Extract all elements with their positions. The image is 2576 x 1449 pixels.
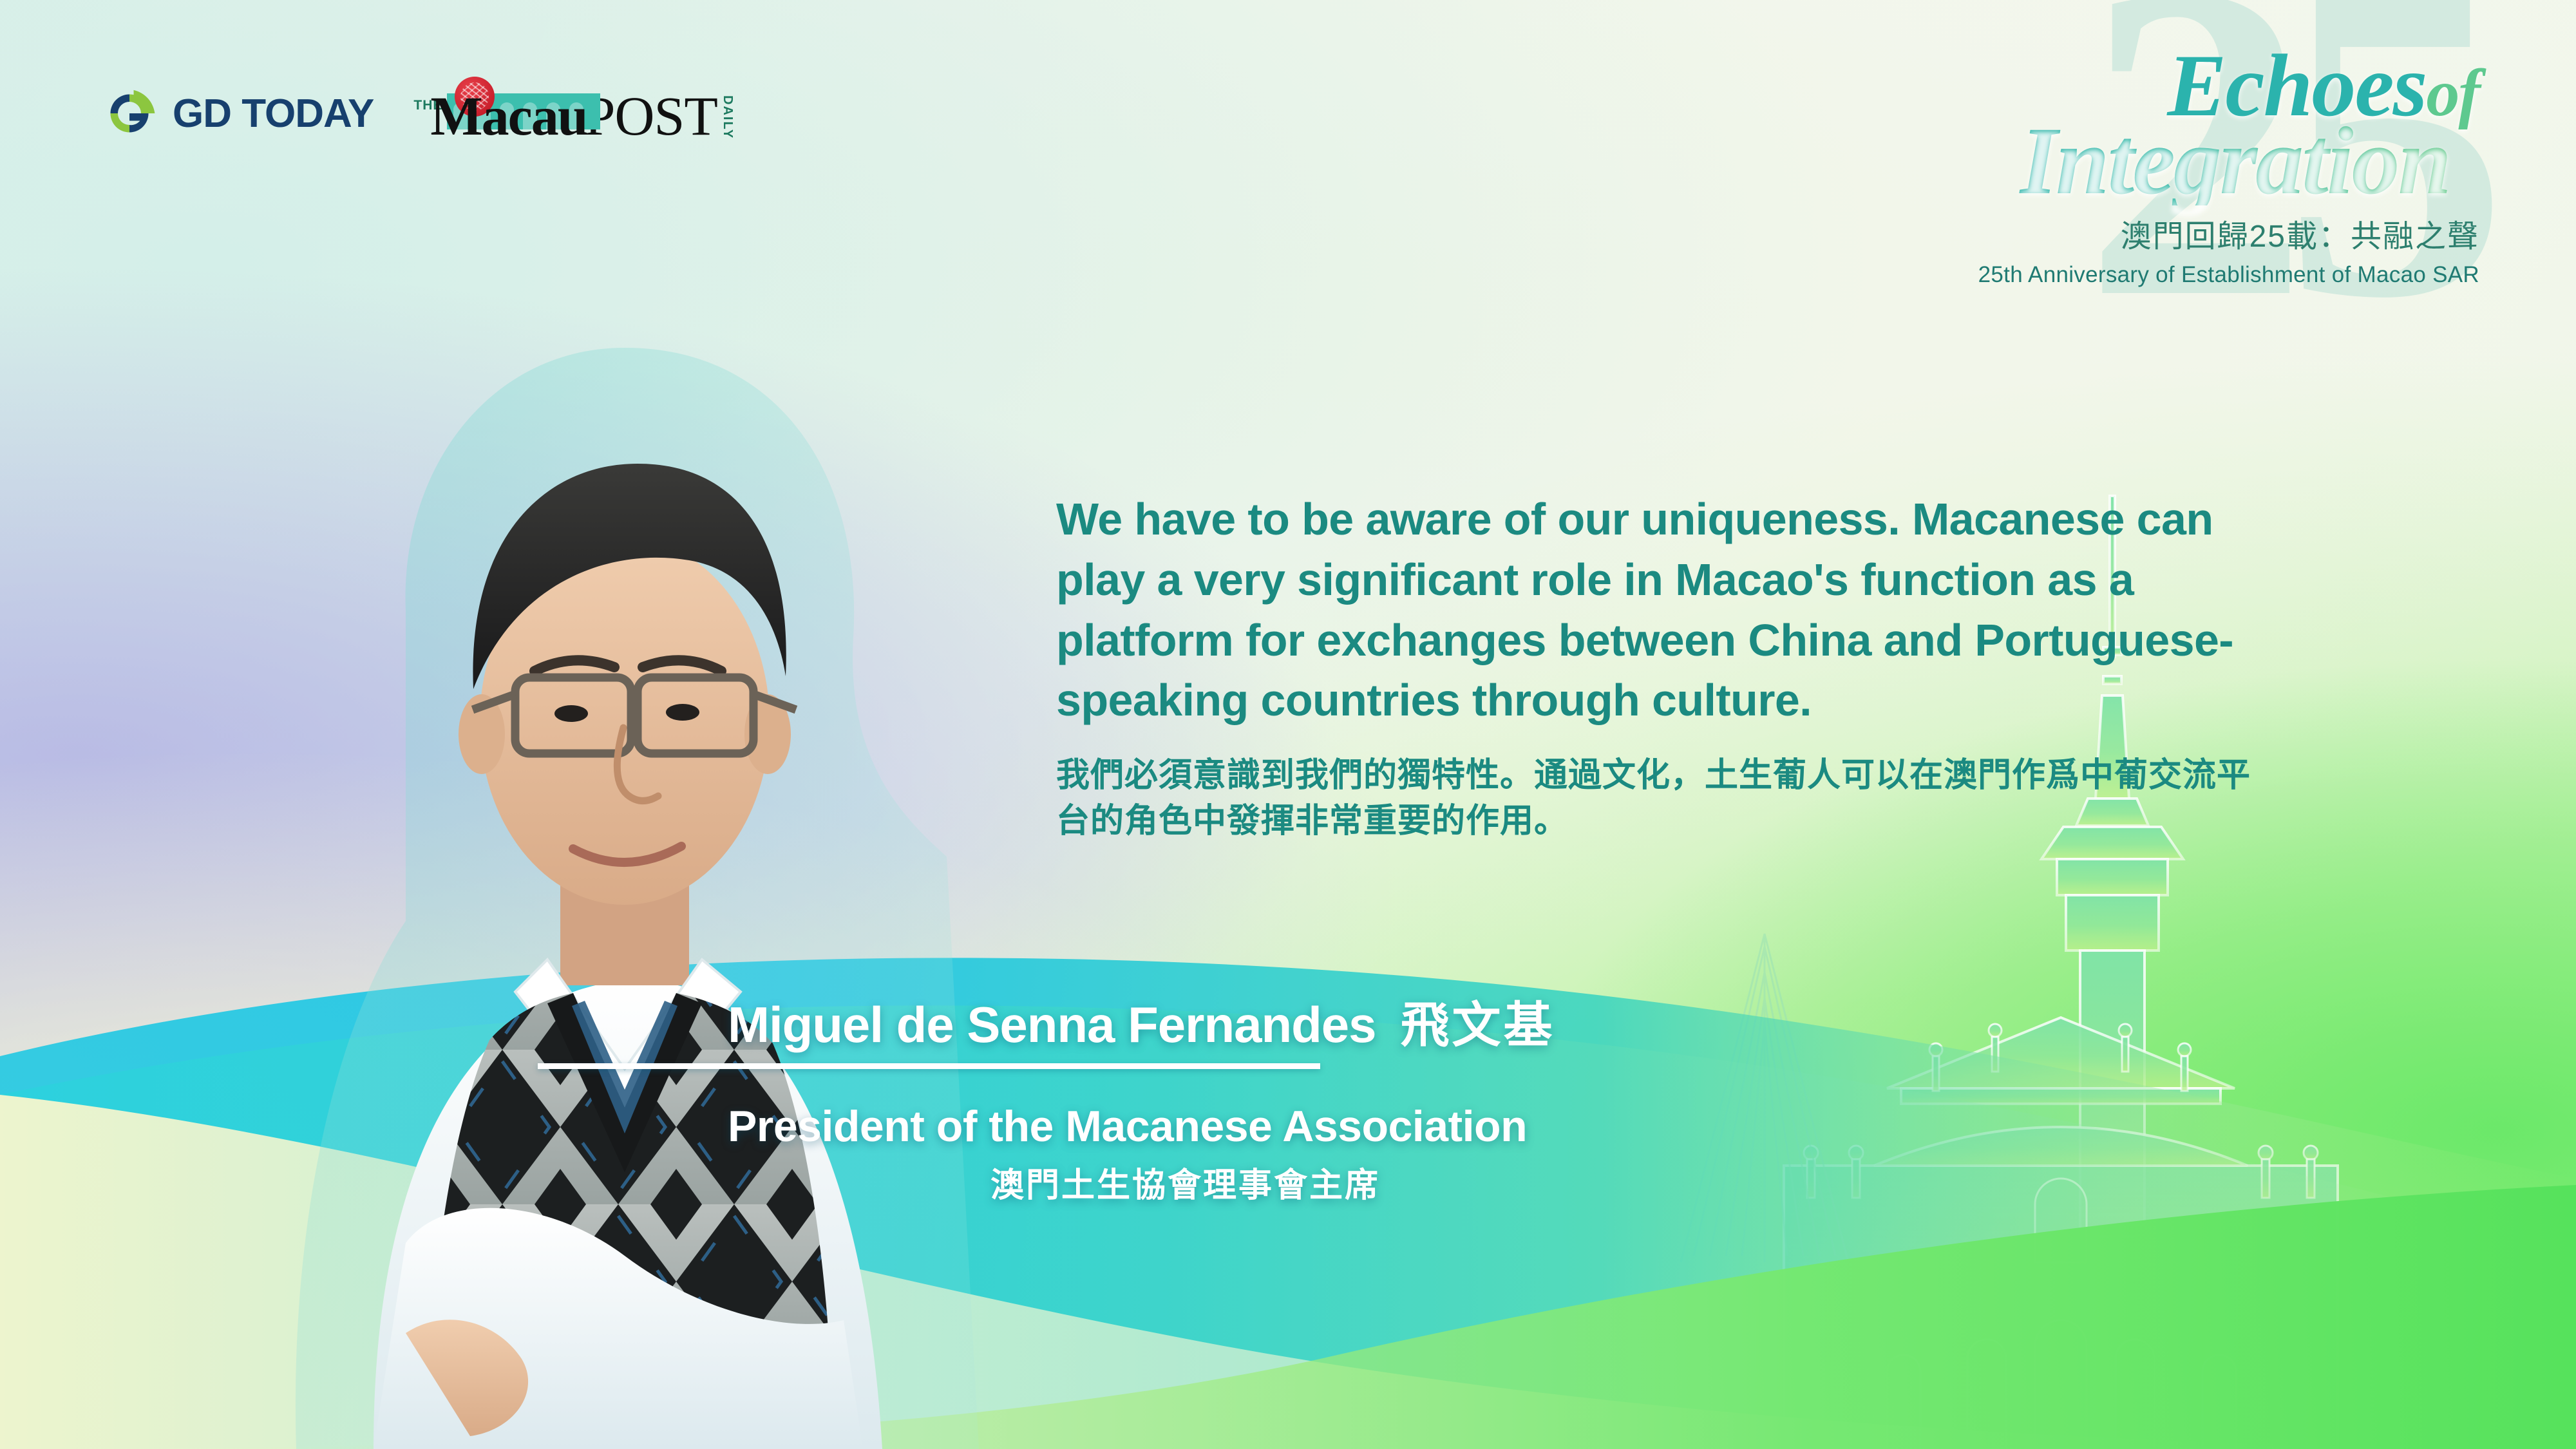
- speaker-title-chinese: 澳門土生協會理事會主席: [990, 1158, 2209, 1206]
- quote-text-chinese: 我們必須意識到我們的獨特性。通過文化，土生葡人可以在澳門作爲中葡交流平台的角色中…: [1056, 753, 2267, 844]
- speaker-title-english: President of the Macanese Association: [728, 1101, 2209, 1151]
- campaign-subtitle-chinese: 澳門回歸25載：共融之聲: [1835, 211, 2479, 256]
- speaker-name-row: Miguel de Senna Fernandes 飛文基: [728, 985, 2209, 1056]
- speaker-name-chinese: 飛文基: [1401, 985, 1555, 1056]
- publisher-logos: GD TODAY THE Macau POST DAILY: [103, 84, 735, 143]
- quote-text-english: We have to be aware of our uniqueness. M…: [1056, 489, 2267, 731]
- campaign-logo-block: Echoesof Integration 澳門回歸25載：共融之聲 25th A…: [1835, 45, 2479, 288]
- macau-post-post-word: POST: [585, 90, 717, 143]
- campaign-subtitle-english: 25th Anniversary of Establishment of Mac…: [1835, 262, 2479, 288]
- gd-today-wordmark: GD TODAY: [173, 91, 374, 137]
- portrait-eye-left: [554, 705, 588, 722]
- macau-post-macau-word: Macau: [430, 85, 587, 147]
- name-divider-rule: [538, 1063, 1320, 1069]
- portrait-eye-right: [666, 704, 699, 721]
- campaign-script-integration: Integration: [1835, 117, 2450, 205]
- gd-today-logo[interactable]: GD TODAY: [103, 87, 374, 140]
- macau-post-daily-logo[interactable]: THE Macau POST DAILY: [411, 84, 734, 143]
- portrait-of-speaker: [213, 277, 1018, 1449]
- poster-canvas: 25: [0, 0, 2576, 1449]
- gd-today-g-mark-icon: [103, 87, 156, 140]
- quote-block: We have to be aware of our uniqueness. M…: [1056, 489, 2267, 844]
- speaker-name-card: Miguel de Senna Fernandes 飛文基 President …: [728, 985, 2209, 1206]
- macau-post-daily-word: DAILY: [720, 95, 735, 139]
- speaker-name-english: Miguel de Senna Fernandes: [728, 996, 1376, 1054]
